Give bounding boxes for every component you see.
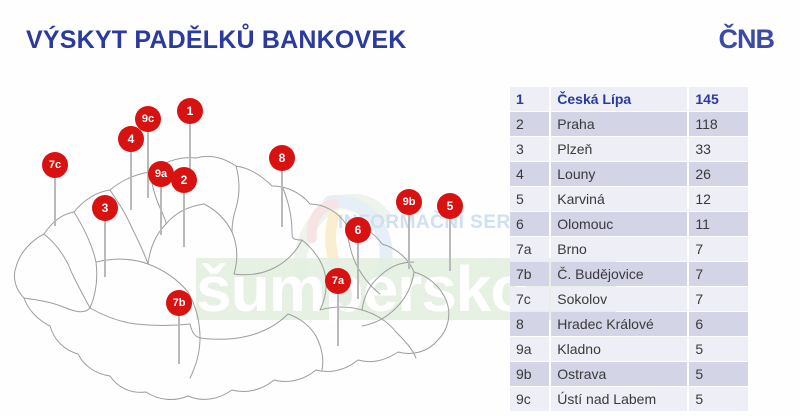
marker-stem bbox=[357, 239, 359, 299]
row-value: 7 bbox=[689, 287, 748, 311]
marker-label: 7b bbox=[166, 290, 192, 316]
marker-label: 1 bbox=[177, 98, 203, 124]
row-value: 12 bbox=[689, 187, 748, 211]
czech-republic-map: šumpersko. INFORMAČNÍ SERV bbox=[0, 62, 508, 416]
row-rank: 4 bbox=[510, 162, 549, 186]
row-rank: 7a bbox=[510, 237, 549, 261]
marker-stem bbox=[449, 215, 451, 271]
row-value: 26 bbox=[689, 162, 748, 186]
row-value: 7 bbox=[689, 237, 748, 261]
row-rank: 9c bbox=[510, 387, 549, 411]
infographic-page: VÝSKYT PADĚLKŮ BANKOVEK ČNB šumpersko. I… bbox=[0, 0, 800, 416]
row-rank: 5 bbox=[510, 187, 549, 211]
table-row[interactable]: 8 Hradec Králové 6 bbox=[510, 312, 748, 336]
map-outlines bbox=[0, 62, 508, 416]
marker-label: 9a bbox=[148, 161, 174, 187]
cnb-logo: ČNB bbox=[719, 26, 775, 53]
counterfeit-ranking-table: 1 Česká Lípa 145 2 Praha 118 3 Plzeň 33 … bbox=[508, 86, 750, 412]
row-city: Louny bbox=[551, 162, 687, 186]
row-rank: 6 bbox=[510, 212, 549, 236]
row-city: Kladno bbox=[551, 337, 687, 361]
marker-stem bbox=[178, 312, 180, 364]
row-city: Olomouc bbox=[551, 212, 687, 236]
marker-stem bbox=[54, 174, 56, 226]
marker-stem bbox=[337, 290, 339, 346]
row-value: 5 bbox=[689, 362, 748, 386]
row-rank: 8 bbox=[510, 312, 549, 336]
table-body: 1 Česká Lípa 145 2 Praha 118 3 Plzeň 33 … bbox=[510, 87, 748, 411]
marker-stem bbox=[408, 211, 410, 269]
row-value: 5 bbox=[689, 337, 748, 361]
marker-label: 8 bbox=[269, 145, 295, 171]
table-row[interactable]: 9a Kladno 5 bbox=[510, 337, 748, 361]
row-value: 33 bbox=[689, 137, 748, 161]
table-row[interactable]: 1 Česká Lípa 145 bbox=[510, 87, 748, 111]
row-city: Ústí nad Labem bbox=[551, 387, 687, 411]
marker-label: 7c bbox=[42, 152, 68, 178]
table-row[interactable]: 9c Ústí nad Labem 5 bbox=[510, 387, 748, 411]
row-rank: 1 bbox=[510, 87, 549, 111]
row-rank: 9a bbox=[510, 337, 549, 361]
table-row[interactable]: 3 Plzeň 33 bbox=[510, 137, 748, 161]
marker-stem bbox=[147, 128, 149, 198]
marker-label: 2 bbox=[171, 167, 197, 193]
row-value: 145 bbox=[689, 87, 748, 111]
table-row[interactable]: 4 Louny 26 bbox=[510, 162, 748, 186]
marker-stem bbox=[281, 167, 283, 227]
row-city: Plzeň bbox=[551, 137, 687, 161]
table-row[interactable]: 2 Praha 118 bbox=[510, 112, 748, 136]
marker-label: 7a bbox=[325, 268, 351, 294]
marker-label: 5 bbox=[437, 193, 463, 219]
marker-label: 4 bbox=[118, 126, 144, 152]
row-city: Hradec Králové bbox=[551, 312, 687, 336]
page-title: VÝSKYT PADĚLKŮ BANKOVEK bbox=[26, 26, 407, 55]
row-rank: 9b bbox=[510, 362, 549, 386]
marker-label: 9b bbox=[396, 189, 422, 215]
row-value: 11 bbox=[689, 212, 748, 236]
row-city: Česká Lípa bbox=[551, 87, 687, 111]
row-city: Ostrava bbox=[551, 362, 687, 386]
marker-label: 3 bbox=[92, 195, 118, 221]
row-city: Brno bbox=[551, 237, 687, 261]
row-value: 118 bbox=[689, 112, 748, 136]
marker-stem bbox=[160, 183, 162, 235]
row-rank: 3 bbox=[510, 137, 549, 161]
table-row[interactable]: 5 Karviná 12 bbox=[510, 187, 748, 211]
marker-label: 6 bbox=[345, 217, 371, 243]
row-rank: 7b bbox=[510, 262, 549, 286]
row-rank: 7c bbox=[510, 287, 549, 311]
row-city: Č. Budějovice bbox=[551, 262, 687, 286]
row-rank: 2 bbox=[510, 112, 549, 136]
row-value: 6 bbox=[689, 312, 748, 336]
table-row[interactable]: 7a Brno 7 bbox=[510, 237, 748, 261]
table-row[interactable]: 9b Ostrava 5 bbox=[510, 362, 748, 386]
marker-stem bbox=[130, 148, 132, 210]
row-city: Sokolov bbox=[551, 287, 687, 311]
marker-stem bbox=[183, 189, 185, 247]
table-row[interactable]: 7b Č. Budějovice 7 bbox=[510, 262, 748, 286]
row-value: 7 bbox=[689, 262, 748, 286]
table-row[interactable]: 7c Sokolov 7 bbox=[510, 287, 748, 311]
marker-stem bbox=[104, 217, 106, 277]
row-value: 5 bbox=[689, 387, 748, 411]
table-row[interactable]: 6 Olomouc 11 bbox=[510, 212, 748, 236]
row-city: Karviná bbox=[551, 187, 687, 211]
row-city: Praha bbox=[551, 112, 687, 136]
